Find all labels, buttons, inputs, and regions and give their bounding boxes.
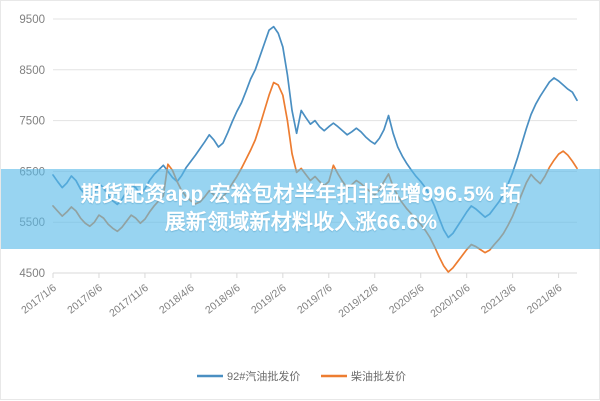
x-axis-tick-label: 2019/12/6: [336, 282, 380, 320]
x-axis-tick-label: 2020/5/6: [387, 282, 427, 317]
chart-container: 450055006500750085009500 2017/1/62017/6/…: [0, 0, 600, 400]
x-axis-tick-label: 2017/11/6: [107, 282, 151, 320]
x-axis-tick-label: 2017/6/6: [65, 282, 105, 317]
x-axis: [53, 273, 577, 278]
y-axis-tick-label: 8500: [19, 65, 45, 77]
x-axis-tick-label: 2017/1/6: [19, 282, 59, 317]
x-axis-tick-label: 2019/7/6: [295, 282, 335, 317]
chart-legend: 92#汽油批发价柴油批发价: [197, 369, 406, 383]
x-axis-tick-label: 2021/3/6: [479, 282, 519, 317]
x-axis-tick-labels: 2017/1/62017/6/62017/11/62018/4/62018/9/…: [19, 282, 564, 320]
x-axis-tick-label: 2019/2/6: [249, 282, 289, 317]
legend-label-1: 92#汽油批发价: [227, 369, 300, 383]
y-axis-tick-label: 4500: [19, 268, 45, 280]
x-axis-tick-label: 2018/4/6: [157, 282, 197, 317]
y-axis-tick-labels: 450055006500750085009500: [19, 14, 45, 280]
x-axis-tick-label: 2018/9/6: [203, 282, 243, 317]
y-axis-tick-label: 5500: [19, 217, 45, 229]
y-axis-tick-label: 6500: [19, 166, 45, 178]
x-axis-tick-label: 2020/10/6: [428, 282, 472, 320]
series-line-2: [53, 83, 577, 272]
data-series: [53, 27, 577, 272]
legend-label-2: 柴油批发价: [351, 369, 406, 383]
y-axis-tick-label: 7500: [19, 116, 45, 128]
gridlines: [53, 19, 577, 273]
series-line-1: [53, 27, 577, 238]
y-axis-tick-label: 9500: [19, 14, 45, 26]
x-axis-tick-label: 2021/8/6: [525, 282, 565, 317]
line-chart-plot: 450055006500750085009500 2017/1/62017/6/…: [1, 1, 600, 401]
